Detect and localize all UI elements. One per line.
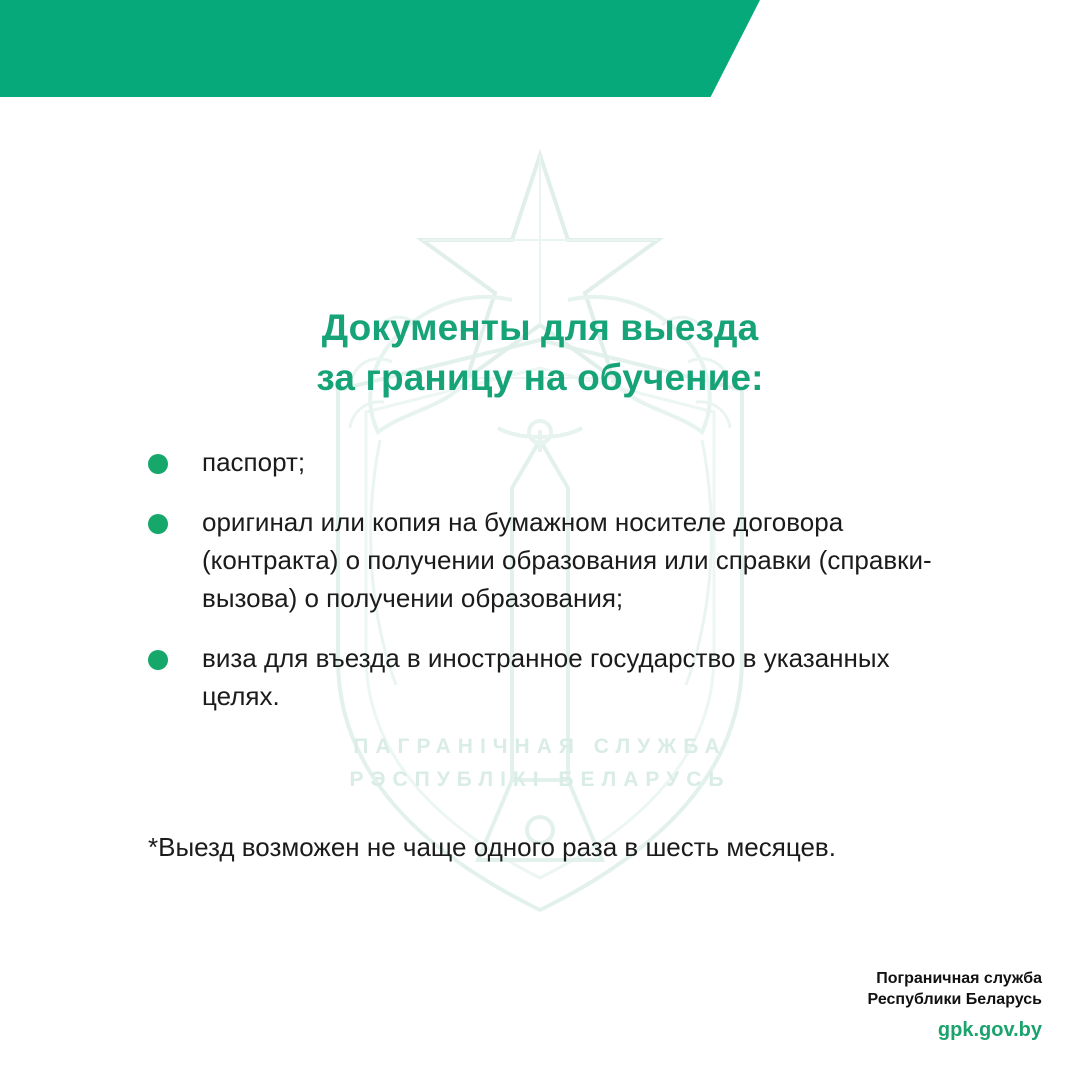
header-banner [0,0,760,97]
list-item: паспорт; [148,443,948,481]
bullet-dot-icon [148,514,168,534]
bullet-dot-icon [148,454,168,474]
bullet-dot-icon [148,650,168,670]
page-title: Документы для выезда за границу на обуче… [0,303,1080,403]
footer-organization: Пограничная служба Республики Беларусь [868,968,1042,1010]
footnote-text: *Выезд возможен не чаще одного раза в ше… [148,828,908,866]
list-item-label: оригинал или копия на бумажном носителе … [202,507,932,613]
footer-website-link[interactable]: gpk.gov.by [868,1018,1042,1042]
footer-organization-line-1: Пограничная служба [868,968,1042,989]
page-title-line-1: Документы для выезда [0,303,1080,353]
list-item: виза для въезда в иностранное государств… [148,639,948,715]
documents-list: паспорт; оригинал или копия на бумажном … [148,443,948,737]
list-item: оригинал или копия на бумажном носителе … [148,503,948,617]
list-item-label: паспорт; [202,447,305,477]
list-item-label: виза для въезда в иностранное государств… [202,643,890,711]
poster-root: ПАГРАНІЧНАЯ СЛУЖБА РЭСПУБЛІКІ БЕЛАРУСЬ П… [0,0,1080,1080]
page-title-line-2: за границу на обучение: [0,353,1080,403]
footer: Пограничная служба Республики Беларусь g… [868,968,1042,1042]
footer-organization-line-2: Республики Беларусь [868,989,1042,1010]
main-content: Документы для выезда за границу на обуче… [0,0,1080,1080]
